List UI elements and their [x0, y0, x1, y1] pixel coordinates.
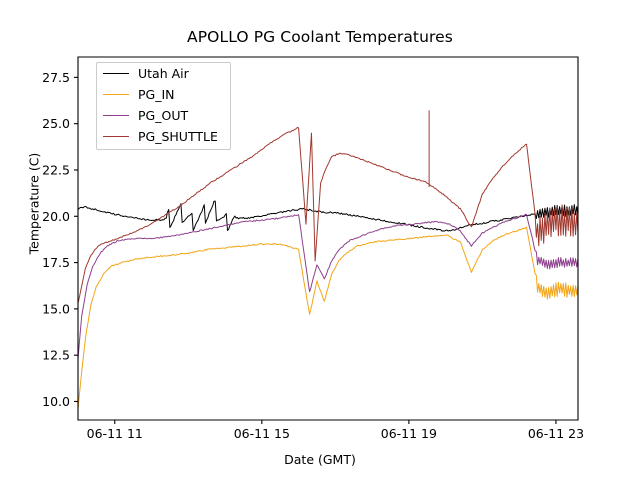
x-tick-label: 06-11 15	[234, 426, 290, 441]
y-tick-label: 12.5	[42, 348, 70, 363]
y-tick-label: 10.0	[42, 394, 70, 409]
y-tick-label: 25.0	[42, 116, 70, 131]
y-tick-label: 22.5	[42, 162, 70, 177]
series-utah air	[78, 201, 578, 231]
legend-swatch-icon	[103, 136, 129, 137]
legend-item-label: PG_IN	[138, 87, 175, 102]
legend: Utah AirPG_INPG_OUTPG_SHUTTLE	[96, 62, 231, 150]
legend-item-label: PG_OUT	[138, 108, 188, 123]
legend-item-label: Utah Air	[138, 66, 189, 81]
x-tick-label: 06-11 19	[381, 426, 437, 441]
legend-item-pg-in[interactable]: PG_IN	[97, 84, 230, 105]
x-tick-label: 06-11 23	[528, 426, 584, 441]
legend-item-label: PG_SHUTTLE	[138, 129, 218, 144]
y-tick-label: 17.5	[42, 255, 70, 270]
legend-item-utah air[interactable]: Utah Air	[97, 63, 230, 84]
y-axis-ticks: 10.012.515.017.520.022.525.027.5	[42, 70, 78, 409]
legend-item-pg-shuttle[interactable]: PG_SHUTTLE	[97, 126, 230, 147]
series-pg-shuttle	[78, 128, 578, 304]
legend-swatch-icon	[103, 73, 129, 74]
figure-canvas: APOLLO PG Coolant Temperatures Temperatu…	[0, 0, 640, 480]
legend-swatch-icon	[103, 115, 129, 116]
legend-swatch-icon	[103, 94, 129, 95]
x-axis-ticks: 06-11 1106-11 1506-11 1906-11 23	[87, 420, 584, 441]
y-tick-label: 20.0	[42, 209, 70, 224]
legend-item-pg-out[interactable]: PG_OUT	[97, 105, 230, 126]
x-tick-label: 06-11 11	[87, 426, 143, 441]
y-tick-label: 15.0	[42, 301, 70, 316]
series-layer	[78, 111, 578, 409]
y-tick-label: 27.5	[42, 70, 70, 85]
series-pg-in	[78, 227, 578, 409]
